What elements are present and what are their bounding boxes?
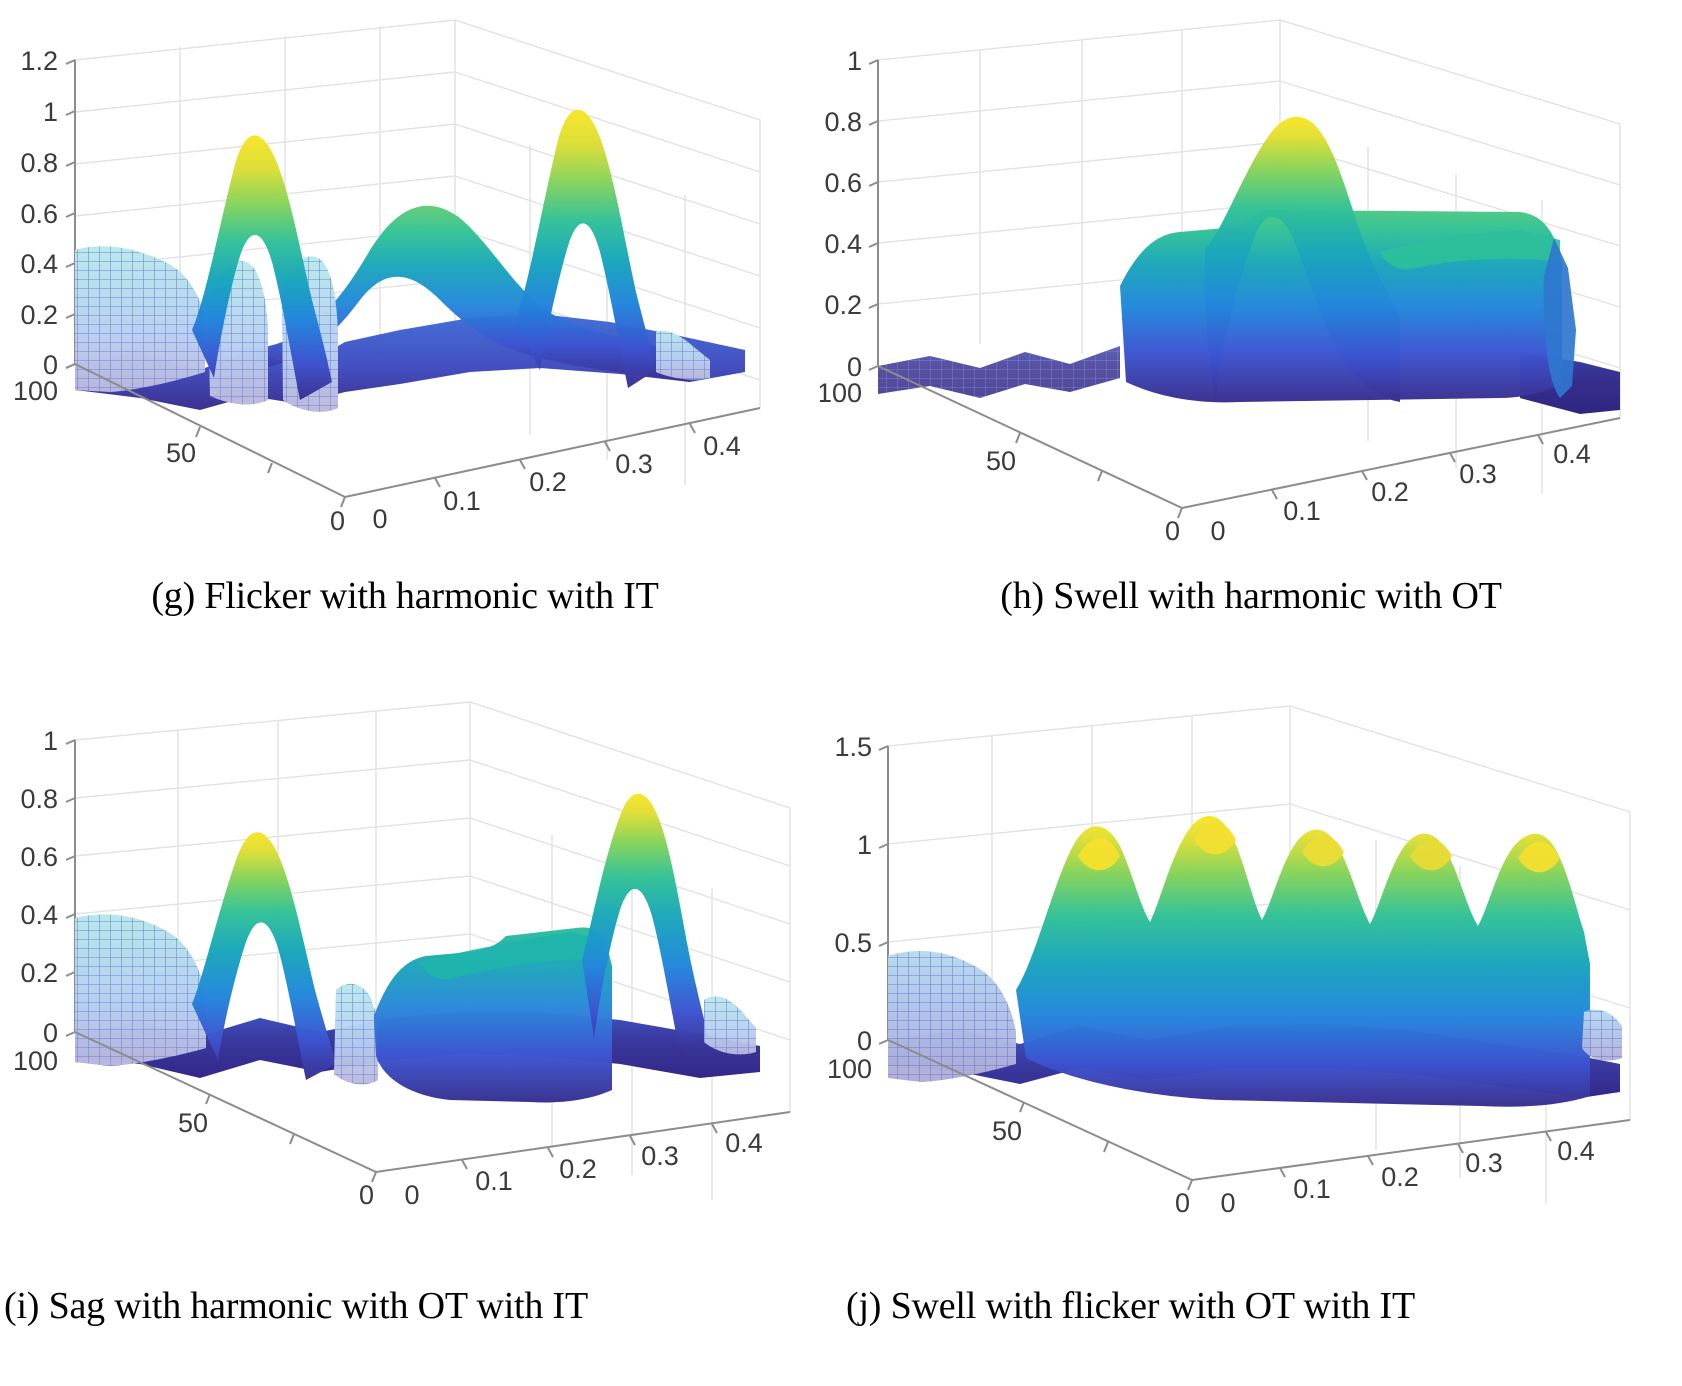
x-tick-j-3: 0.3: [1465, 1148, 1503, 1178]
y-tick-i-0: 0: [359, 1180, 374, 1210]
panel-i-plot: 1 0.8 0.6 0.4 0.2 0: [0, 660, 820, 1280]
surface-mesh-tail-i: [704, 996, 756, 1054]
y-tick-j-1: 50: [992, 1116, 1022, 1146]
x-tick-g-3: 0.3: [615, 449, 653, 479]
y-tick-h-2: 100: [820, 378, 862, 408]
panel-h-caption: (h) Swell with harmonic with OT: [820, 574, 1682, 618]
z-tick-g-1: 0.2: [20, 300, 58, 330]
panel-j-caption: (j) Swell with flicker with OT with IT: [820, 1284, 1682, 1328]
y-tick-g-1: 50: [166, 438, 196, 468]
z-axis-g: [66, 60, 75, 368]
z-tick-labels-j: 1.5 1 0.5 0: [834, 732, 872, 1056]
z-tick-g-2: 0.4: [20, 249, 58, 279]
z-tick-h-5: 1: [847, 46, 862, 76]
z-tick-j-1: 0.5: [834, 928, 872, 958]
z-tick-j-2: 1: [857, 830, 872, 860]
y-tick-g-0: 0: [330, 506, 345, 536]
y-tick-j-2: 100: [827, 1054, 872, 1084]
x-tick-labels-h: 0 0.1 0.2 0.3 0.4: [1210, 439, 1590, 546]
panel-i: 1 0.8 0.6 0.4 0.2 0: [0, 660, 820, 1386]
y-tick-labels-h: 100 50 0: [820, 378, 1180, 546]
y-tick-g-2: 100: [13, 376, 58, 406]
surface-ridge-crests-j: [1078, 822, 1560, 872]
z-tick-h-1: 0.2: [824, 290, 862, 320]
z-tick-i-5: 1: [43, 726, 58, 756]
x-tick-j-0: 0: [1220, 1188, 1235, 1218]
x-tick-i-4: 0.4: [725, 1128, 763, 1158]
y-tick-j-0: 0: [1175, 1188, 1190, 1218]
x-tick-h-3: 0.3: [1459, 459, 1497, 489]
x-tick-j-4: 0.4: [1557, 1136, 1595, 1166]
x-tick-i-1: 0.1: [475, 1166, 513, 1196]
y-tick-h-1: 50: [986, 446, 1016, 476]
x-tick-h-0: 0: [1210, 516, 1225, 546]
z-tick-i-3: 0.6: [20, 842, 58, 872]
z-tick-h-2: 0.4: [824, 229, 862, 259]
z-tick-h-3: 0.6: [824, 168, 862, 198]
surface-plot-h: 1 0.8 0.6 0.4 0.2 0: [820, 0, 1682, 560]
z-tick-labels-g: 1.2 1 0.8 0.6 0.4 0.2 0: [20, 46, 58, 380]
z-tick-g-4: 0.8: [20, 148, 58, 178]
x-tick-g-1: 0.1: [443, 486, 481, 516]
z-tick-g-5: 1: [43, 97, 58, 127]
surface-floor-mesh-h: [878, 346, 1120, 398]
surface-mesh-skirt-i: [75, 914, 206, 1066]
x-tick-i-0: 0: [404, 1180, 419, 1210]
x-tick-j-2: 0.2: [1381, 1162, 1419, 1192]
y-tick-h-0: 0: [1165, 516, 1180, 546]
z-tick-i-0: 0: [43, 1018, 58, 1048]
z-tick-g-6: 1.2: [20, 46, 58, 76]
x-tick-labels-j: 0 0.1 0.2 0.3 0.4: [1220, 1136, 1594, 1218]
panel-j: 1.5 1 0.5 0: [820, 660, 1682, 1386]
z-axis-h: [869, 60, 878, 370]
surface-mesh-skirt-j: [888, 951, 1016, 1082]
z-tick-labels-h: 1 0.8 0.6 0.4 0.2 0: [824, 46, 862, 382]
panel-j-plot: 1.5 1 0.5 0: [820, 660, 1682, 1280]
x-tick-g-4: 0.4: [703, 431, 741, 461]
panel-g: 1.2 1 0.8 0.6 0.4 0.2 0: [0, 0, 810, 630]
y-tick-i-1: 50: [178, 1108, 208, 1138]
z-tick-h-4: 0.8: [824, 107, 862, 137]
x-tick-g-0: 0: [372, 504, 387, 534]
surface-plot-j: 1.5 1 0.5 0: [820, 660, 1682, 1280]
z-tick-g-3: 0.6: [20, 199, 58, 229]
surface-plot-g: 1.2 1 0.8 0.6 0.4 0.2 0: [0, 0, 810, 560]
panel-h-plot: 1 0.8 0.6 0.4 0.2 0: [820, 0, 1682, 560]
z-axis-j: [879, 746, 888, 1044]
surface-mesh-tail-j: [1582, 1010, 1622, 1061]
x-tick-h-2: 0.2: [1371, 477, 1409, 507]
panel-g-caption: (g) Flicker with harmonic with IT: [0, 574, 810, 618]
z-tick-i-2: 0.4: [20, 900, 58, 930]
x-tick-h-1: 0.1: [1283, 496, 1321, 526]
panel-i-caption: (i) Sag with harmonic with OT with IT: [0, 1284, 820, 1328]
x-tick-i-2: 0.2: [559, 1154, 597, 1184]
panel-h: 1 0.8 0.6 0.4 0.2 0: [820, 0, 1682, 630]
z-tick-labels-i: 1 0.8 0.6 0.4 0.2 0: [20, 726, 58, 1048]
z-tick-i-4: 0.8: [20, 784, 58, 814]
figure-panel-grid: 1.2 1 0.8 0.6 0.4 0.2 0: [0, 0, 1682, 1386]
x-tick-j-1: 0.1: [1293, 1174, 1331, 1204]
surface-plot-i: 1 0.8 0.6 0.4 0.2 0: [0, 660, 820, 1280]
surface-mesh-skirt-g: [75, 246, 205, 392]
z-tick-i-1: 0.2: [20, 958, 58, 988]
z-axis-i: [66, 740, 75, 1036]
panel-g-plot: 1.2 1 0.8 0.6 0.4 0.2 0: [0, 0, 810, 560]
x-tick-h-4: 0.4: [1553, 439, 1591, 469]
y-tick-i-2: 100: [13, 1046, 58, 1076]
surface-mesh-fin-i: [334, 984, 378, 1085]
z-tick-j-3: 1.5: [834, 732, 872, 762]
x-tick-i-3: 0.3: [641, 1141, 679, 1171]
z-tick-j-0: 0: [857, 1026, 872, 1056]
x-tick-labels-i: 0 0.1 0.2 0.3 0.4: [404, 1128, 762, 1210]
x-tick-g-2: 0.2: [529, 467, 567, 497]
